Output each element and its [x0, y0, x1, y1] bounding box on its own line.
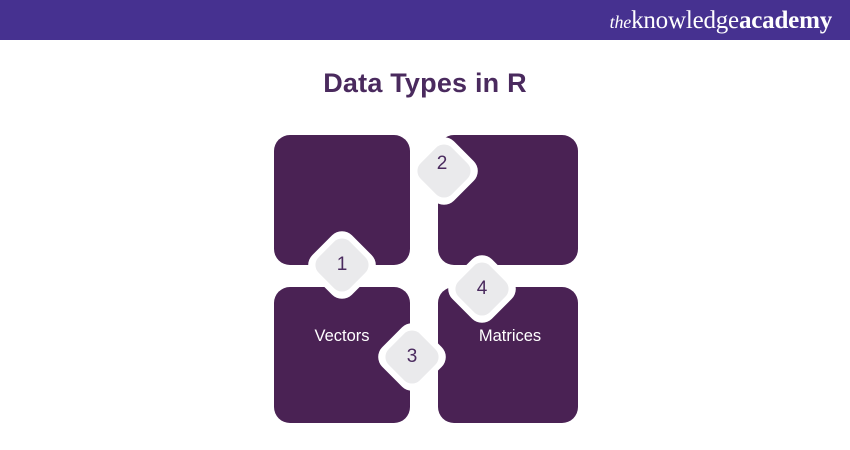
slide-page: theknowledgeacademy Data Types in R — [0, 0, 850, 450]
tile-matrices — [438, 135, 578, 265]
data-types-diagram: Vectors Matrices Data Frames Lists 1 2 3… — [274, 135, 578, 423]
page-title: Data Types in R — [0, 68, 850, 99]
tile-lists — [438, 287, 578, 423]
diagram-shapes — [274, 135, 578, 423]
header-bar: theknowledgeacademy — [0, 0, 850, 40]
brand-the: the — [610, 12, 631, 32]
brand-academy: academy — [739, 7, 832, 34]
brand-knowledge: knowledge — [631, 7, 739, 34]
brand-logo: theknowledgeacademy — [610, 8, 850, 33]
